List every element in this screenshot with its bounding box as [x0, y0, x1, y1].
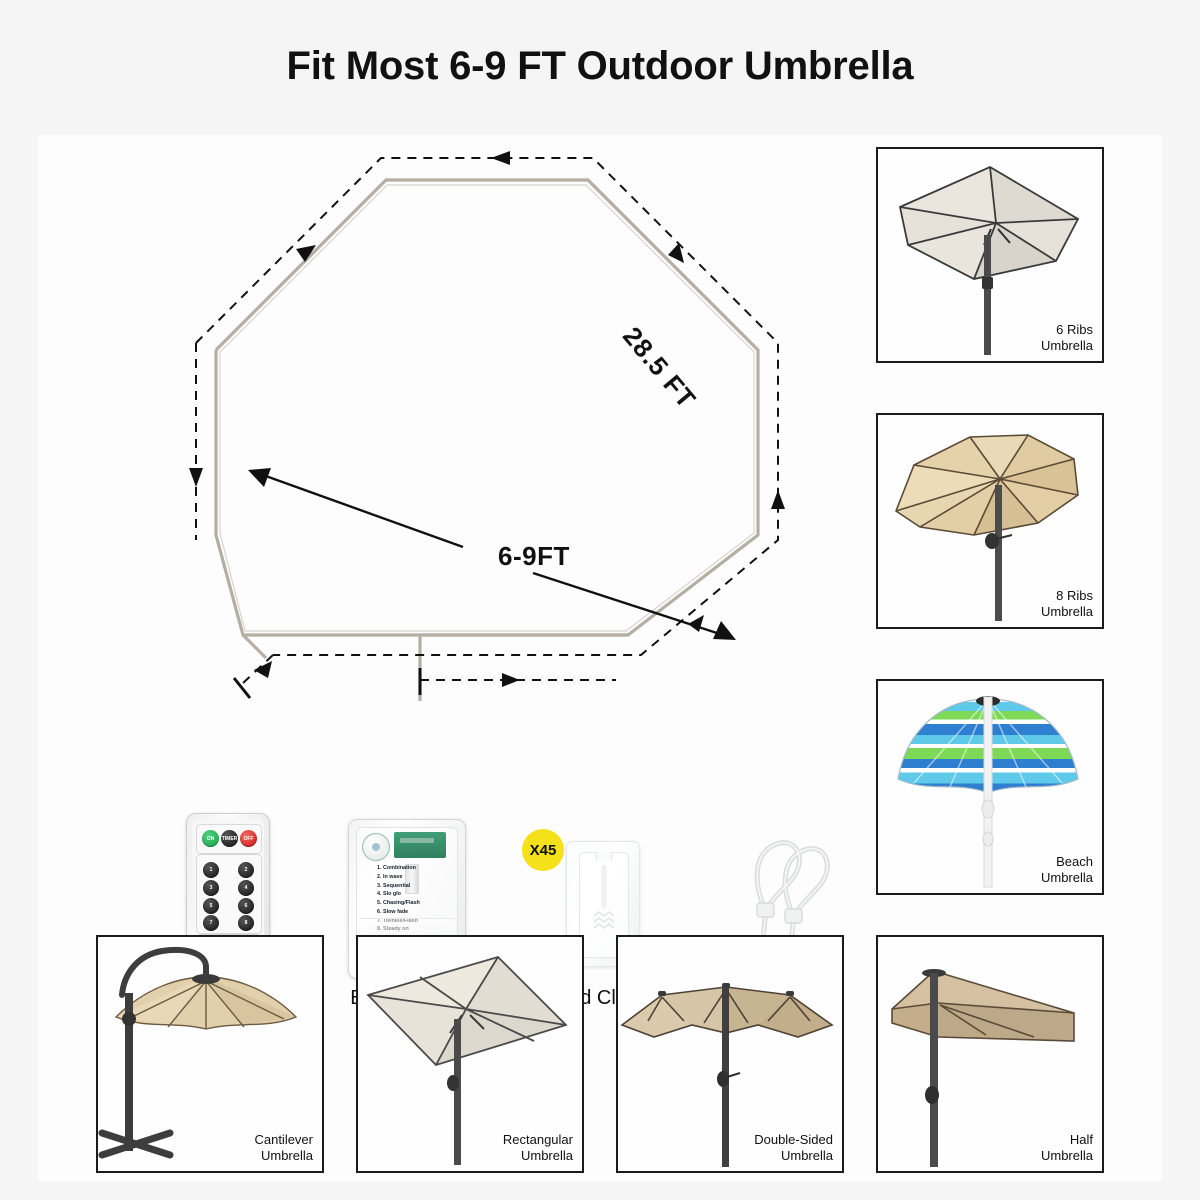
panel-caption: Half Umbrella	[1041, 1132, 1093, 1165]
panel-caption: Beach Umbrella	[1041, 854, 1093, 887]
clip-slot	[602, 865, 607, 909]
panel-caption-line2: Umbrella	[1041, 604, 1093, 620]
panel-cantilever-umbrella[interactable]: Cantilever Umbrella	[96, 935, 324, 1173]
content-card: 28.5 FT 6-9FT ON TIMER OFF MODE 1 2 3 4 …	[38, 135, 1162, 1181]
battery-power-switch[interactable]	[362, 833, 390, 861]
mode-item: 6. Slow fade	[377, 908, 463, 917]
battery-circuit-board	[394, 832, 446, 858]
remote-number-5[interactable]: 5	[203, 898, 219, 914]
infographic-page: Fit Most 6-9 FT Outdoor Umbrella	[0, 0, 1200, 1200]
clip-notch	[596, 852, 612, 861]
panel-rectangular-umbrella[interactable]: Rectangular Umbrella	[356, 935, 584, 1173]
remote-number-4[interactable]: 4	[238, 880, 254, 896]
diameter-dimension-label: 6-9FT	[498, 541, 570, 572]
remote-number-6[interactable]: 6	[238, 898, 254, 914]
panel-caption-line2: Umbrella	[1041, 338, 1093, 354]
mode-item: 5. Chasing/Flash	[377, 899, 463, 908]
mode-item: 1. Combination	[377, 864, 463, 873]
panel-eight-ribs-umbrella[interactable]: 8 Ribs Umbrella	[876, 413, 1104, 629]
panel-caption-line2: Umbrella	[503, 1148, 573, 1164]
remote-number-8[interactable]: 8	[238, 915, 254, 931]
remote-number-2[interactable]: 2	[238, 862, 254, 878]
remote-number-1[interactable]: 1	[203, 862, 219, 878]
panel-caption-line1: Half	[1041, 1132, 1093, 1148]
panel-caption-line2: Umbrella	[754, 1148, 833, 1164]
remote-power-panel: ON TIMER OFF	[196, 824, 262, 854]
panel-caption: Rectangular Umbrella	[503, 1132, 573, 1165]
panel-six-ribs-umbrella[interactable]: 6 Ribs Umbrella	[876, 147, 1104, 363]
panel-double-sided-umbrella[interactable]: Double-Sided Umbrella	[616, 935, 844, 1173]
remote-timer-button[interactable]: TIMER	[221, 830, 238, 847]
panel-caption-line1: Double-Sided	[754, 1132, 833, 1148]
panel-caption-line1: 6 Ribs	[1041, 322, 1093, 338]
panel-half-umbrella[interactable]: Half Umbrella	[876, 935, 1104, 1173]
panel-caption-line2: Umbrella	[1041, 870, 1093, 886]
remote-number-3[interactable]: 3	[203, 880, 219, 896]
panel-caption-line2: Umbrella	[1041, 1148, 1093, 1164]
page-title: Fit Most 6-9 FT Outdoor Umbrella	[0, 44, 1200, 89]
remote-number-panel: 1 2 3 4 5 6 7 8	[196, 854, 262, 934]
clip-grip-texture	[592, 911, 616, 933]
mode-item: 2. In wave	[377, 873, 463, 882]
remote-off-button[interactable]: OFF	[240, 830, 257, 847]
panel-caption-line2: Umbrella	[254, 1148, 313, 1164]
panel-caption-line1: Beach	[1041, 854, 1093, 870]
panel-caption: 6 Ribs Umbrella	[1041, 322, 1093, 355]
panel-caption: 8 Ribs Umbrella	[1041, 588, 1093, 621]
panel-caption-line1: Rectangular	[503, 1132, 573, 1148]
clip-quantity-badge: X45	[522, 829, 564, 871]
panel-caption-line1: Cantilever	[254, 1132, 313, 1148]
panel-caption: Cantilever Umbrella	[254, 1132, 313, 1165]
panel-beach-umbrella[interactable]: Beach Umbrella	[876, 679, 1104, 895]
remote-number-7[interactable]: 7	[203, 915, 219, 931]
mode-item: 3. Sequential	[377, 882, 463, 891]
octagon-led-strip-diagram: 28.5 FT 6-9FT	[68, 135, 788, 695]
panel-caption: Double-Sided Umbrella	[754, 1132, 833, 1165]
panel-caption-line1: 8 Ribs	[1041, 588, 1093, 604]
remote-on-button[interactable]: ON	[202, 830, 219, 847]
mode-item: 4. Slo glo	[377, 890, 463, 899]
